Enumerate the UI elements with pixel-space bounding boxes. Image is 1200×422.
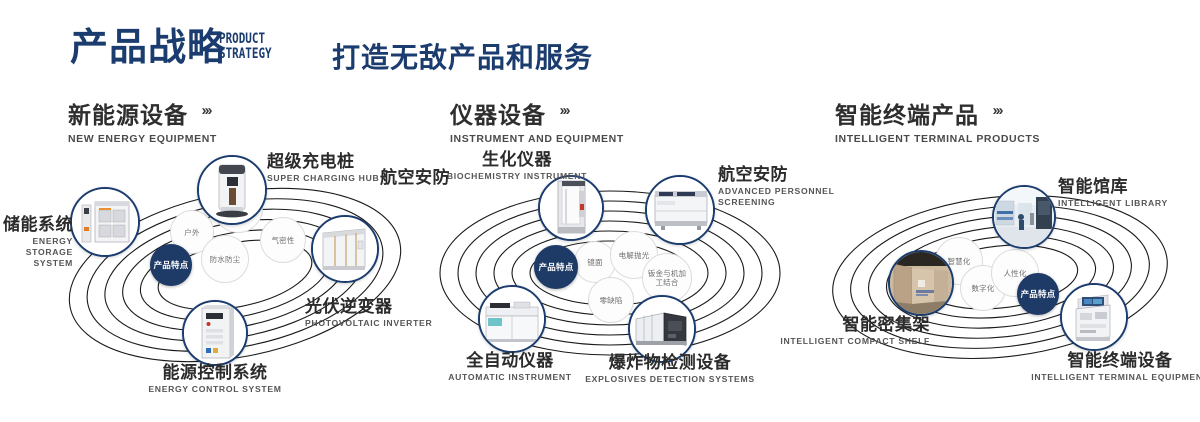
self-service-kiosk-icon bbox=[1062, 285, 1126, 349]
product-node-energy-storage[interactable] bbox=[70, 187, 140, 257]
product-name-cn: 智能馆库 bbox=[1058, 177, 1200, 197]
energy-storage-cabinet-icon bbox=[72, 189, 138, 255]
section-heading-new-energy: 新能源设备 ››› NEW ENERGY EQUIPMENT bbox=[68, 96, 217, 145]
product-label-control-cabinet: 能源控制系统 ENERGY CONTROL SYSTEM bbox=[85, 363, 345, 395]
charging-pile-icon bbox=[199, 157, 265, 223]
section-title-cn: 智能终端产品 bbox=[835, 96, 979, 130]
product-node-personnel-screening[interactable] bbox=[645, 175, 715, 245]
product-node-intelligent-library[interactable] bbox=[992, 185, 1056, 249]
section-title-cn: 仪器设备 bbox=[450, 96, 546, 130]
product-name-en: INTELLIGENT TERMINAL EQUIPMENT bbox=[995, 372, 1200, 383]
product-label-aviation-security-extra: 航空安防 bbox=[375, 168, 450, 188]
page-header: 产品战略 PRODUCT STRATEGY 打造无敌产品和服务 bbox=[0, 0, 1200, 86]
core-bubble: 产品特点 bbox=[534, 245, 578, 289]
product-node-charging-pile[interactable] bbox=[197, 155, 267, 225]
section-heading-instrument: 仪器设备 ››› INSTRUMENT AND EQUIPMENT bbox=[450, 96, 624, 145]
feature-bubble: 防水防尘 bbox=[201, 235, 249, 283]
library-interior-icon bbox=[994, 187, 1054, 247]
page-title: 产品战略 bbox=[70, 26, 226, 70]
product-name-en: INTELLIGENT LIBRARY bbox=[1058, 198, 1200, 209]
feature-bubble: 气密性 bbox=[260, 217, 306, 263]
core-bubble: 产品特点 bbox=[1017, 273, 1059, 315]
product-label-biochemistry-instrument: 生化仪器 BIOCHEMISTRY INSTRUMENT bbox=[442, 150, 592, 182]
product-node-control-cabinet[interactable] bbox=[182, 300, 248, 366]
automatic-analyzer-icon bbox=[480, 287, 544, 351]
product-name-en: BIOCHEMISTRY INSTRUMENT bbox=[442, 171, 592, 182]
product-label-terminal-kiosk: 智能终端设备 INTELLIGENT TERMINAL EQUIPMENT bbox=[995, 351, 1200, 383]
product-node-biochemistry-instrument[interactable] bbox=[538, 175, 604, 241]
explosive-detector-icon bbox=[630, 297, 694, 361]
section-title-en: INSTRUMENT AND EQUIPMENT bbox=[450, 133, 624, 145]
title-en-line2: STRATEGY bbox=[219, 47, 272, 62]
product-name-cn: 生化仪器 bbox=[442, 150, 592, 170]
product-node-automatic-instrument[interactable] bbox=[478, 285, 546, 353]
section-title-en: NEW ENERGY EQUIPMENT bbox=[68, 133, 217, 145]
product-name-en: ENERGY CONTROL SYSTEM bbox=[85, 384, 345, 395]
title-en-line1: PRODUCT bbox=[219, 32, 272, 47]
product-label-automatic-instrument: 全自动仪器 AUTOMATIC INSTRUMENT bbox=[390, 351, 630, 383]
product-name-en: ENERGY STORAGE SYSTEM bbox=[0, 236, 73, 269]
product-node-compact-shelf[interactable] bbox=[888, 250, 954, 316]
product-node-inverter[interactable] bbox=[311, 215, 379, 283]
product-name-cn: 能源控制系统 bbox=[85, 363, 345, 383]
product-name-cn: 航空安防 bbox=[375, 168, 450, 188]
product-name-en: INTELLIGENT COMPACT SHELF bbox=[760, 336, 930, 347]
cluster-instrument: 镜面 电解抛光 钣金与机加工结合 零缺陷 产品特点 生化仪器 BIOCHEMIS… bbox=[430, 155, 790, 395]
product-name-cn: 智能终端设备 bbox=[995, 351, 1200, 371]
section-title-en: INTELLIGENT TERMINAL PRODUCTS bbox=[835, 133, 1040, 145]
inverter-cabinet-icon bbox=[313, 217, 377, 281]
product-label-compact-shelf: 智能密集架 INTELLIGENT COMPACT SHELF bbox=[760, 315, 930, 347]
cluster-intelligent-terminal: 智慧化 数字化 人性化 产品特点 智能馆库 INTELLIGENT LIBRAR… bbox=[820, 155, 1180, 395]
feature-bubble: 零缺陷 bbox=[588, 277, 634, 323]
product-name-en: AUTOMATIC INSTRUMENT bbox=[390, 372, 630, 383]
product-node-terminal-kiosk[interactable] bbox=[1060, 283, 1128, 351]
compact-shelf-icon bbox=[890, 252, 952, 314]
core-bubble: 产品特点 bbox=[150, 244, 192, 286]
page-subtitle: 打造无敌产品和服务 bbox=[332, 36, 593, 76]
biochemistry-scanner-icon bbox=[540, 177, 602, 239]
section-heading-intelligent-terminal: 智能终端产品 ››› INTELLIGENT TERMINAL PRODUCTS bbox=[835, 96, 1040, 145]
screening-machine-icon bbox=[647, 177, 713, 243]
section-title-cn: 新能源设备 bbox=[68, 96, 188, 130]
chevron-right-icon: ››› bbox=[559, 102, 568, 119]
chevron-right-icon: ››› bbox=[201, 102, 210, 119]
chevron-right-icon: ››› bbox=[992, 102, 1001, 119]
product-label-energy-storage: 储能系统 ENERGY STORAGE SYSTEM bbox=[0, 215, 73, 269]
product-name-cn: 智能密集架 bbox=[760, 315, 930, 335]
control-cabinet-icon bbox=[184, 302, 246, 364]
product-name-cn: 储能系统 bbox=[0, 215, 73, 235]
page-title-english: PRODUCT STRATEGY bbox=[219, 32, 272, 62]
product-label-intelligent-library: 智能馆库 INTELLIGENT LIBRARY bbox=[1058, 177, 1200, 209]
product-name-cn: 全自动仪器 bbox=[390, 351, 630, 371]
cluster-new-energy: 户外 防腐防锈 防水防尘 气密性 产品特点 储能系统 ENERGY STORAG… bbox=[55, 155, 415, 395]
